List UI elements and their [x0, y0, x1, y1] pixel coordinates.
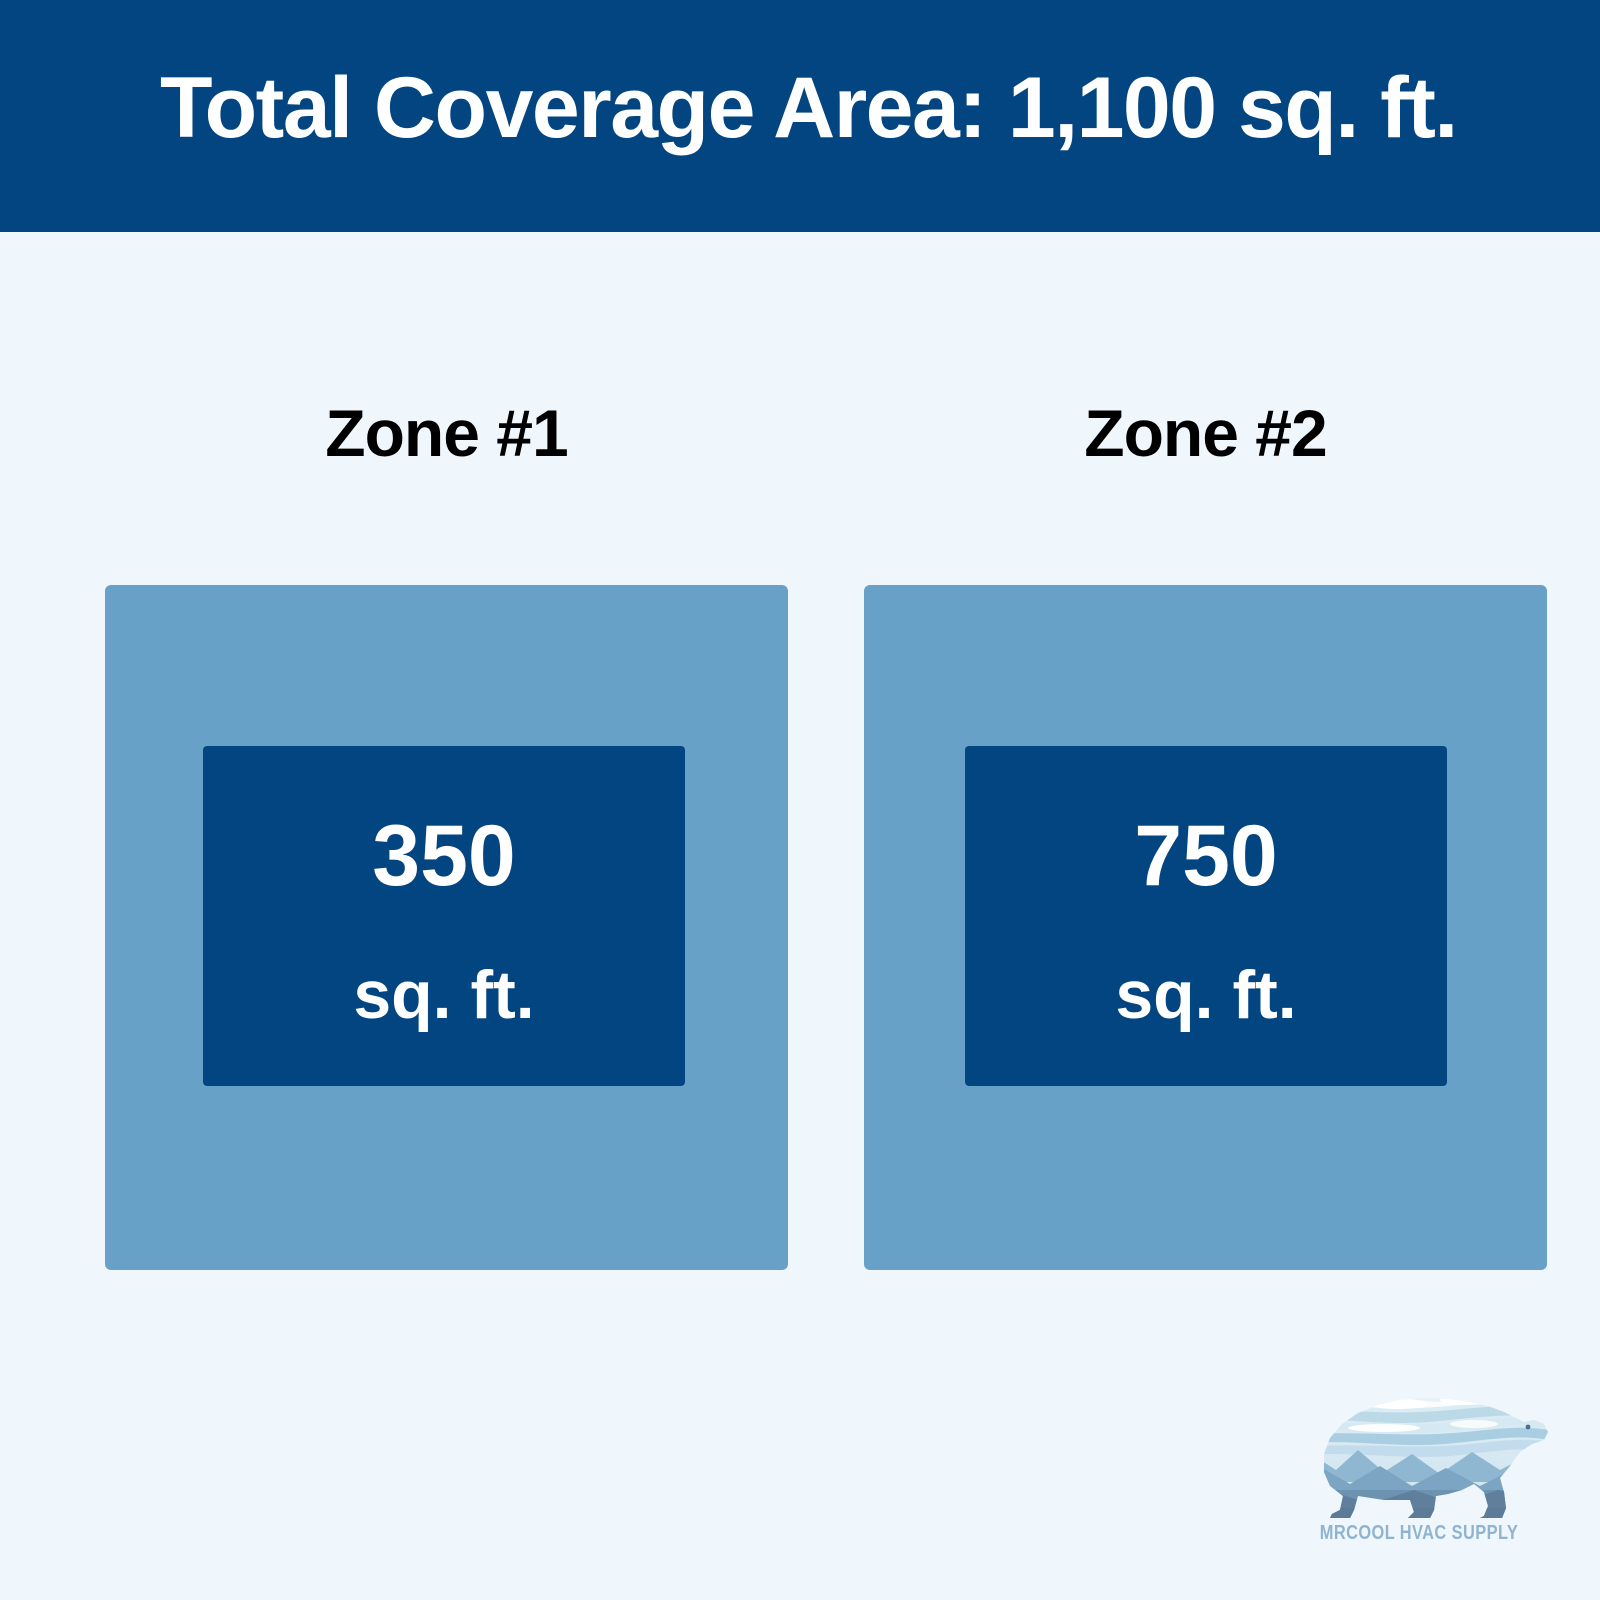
page-title: Total Coverage Area: 1,100 sq. ft. [160, 62, 1457, 155]
logo-wordmark: MRCOOL HVAC SUPPLY [1312, 1522, 1527, 1545]
zone-2-value: 750 [1134, 813, 1278, 899]
zone-2-value-card: 750 sq. ft. [965, 746, 1447, 1086]
zone-1-unit: sq. ft. [353, 961, 534, 1029]
zone-1-outer-box: 350 sq. ft. [105, 585, 788, 1270]
zone-1-label: Zone #1 [105, 400, 788, 466]
brand-logo: MRCOOL HVAC SUPPLY [1288, 1378, 1550, 1553]
zone-1-value-card: 350 sq. ft. [203, 746, 685, 1086]
header-banner: Total Coverage Area: 1,100 sq. ft. [0, 0, 1600, 232]
polar-bear-icon [1288, 1378, 1550, 1518]
zone-1-value: 350 [372, 813, 516, 899]
zone-2-outer-box: 750 sq. ft. [864, 585, 1547, 1270]
zone-2-label: Zone #2 [864, 400, 1547, 466]
zone-2-unit: sq. ft. [1115, 961, 1296, 1029]
